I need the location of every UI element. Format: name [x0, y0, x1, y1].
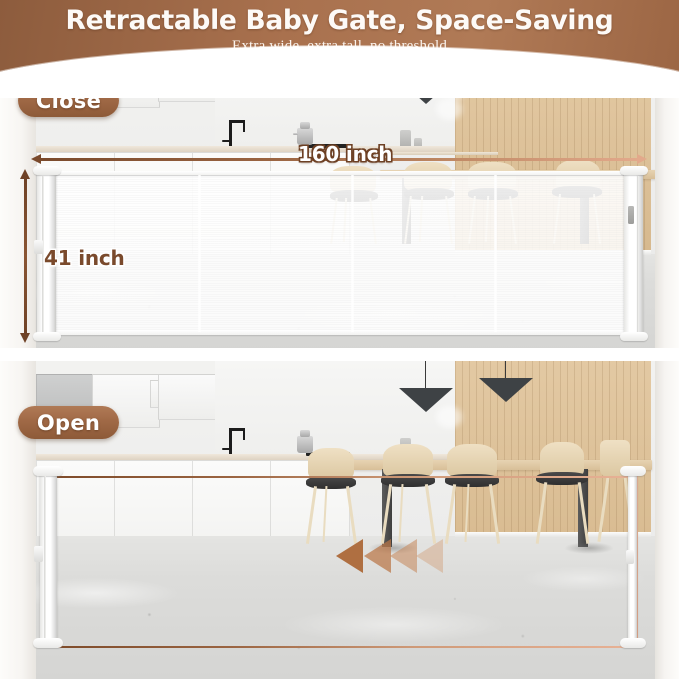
upper-cabinet [158, 374, 218, 420]
chevron-left-icon [336, 539, 363, 573]
panel-closed-state: 160 inch 41 inch Close [0, 58, 679, 350]
table-shadow [564, 542, 614, 554]
chevron-left-icon [364, 539, 391, 573]
baseboard [455, 532, 651, 537]
pendant-cord [505, 360, 506, 380]
gate-post-left-bracket [34, 240, 43, 254]
ghost-outline-top [52, 476, 638, 478]
gate-post-right-rod [637, 176, 639, 332]
gate-post-left-base [33, 332, 61, 341]
chevron-left-icon [416, 539, 443, 573]
gate-post-left-cap [33, 166, 61, 175]
faucet-neck [243, 428, 245, 440]
gate-post-left-base-open [33, 638, 63, 648]
page-title: Retractable Baby Gate, Space-Saving [0, 5, 679, 36]
chevron-left-icon [390, 539, 417, 573]
kettle-top [300, 122, 310, 129]
gate-post-right-latch [628, 206, 634, 224]
gate-mesh-divider [494, 175, 497, 332]
faucet-neck [243, 120, 245, 132]
kettle-body [297, 436, 313, 453]
door-jamb-right [655, 360, 679, 679]
arrow-down-icon [20, 333, 30, 343]
gate-top-rail [45, 171, 635, 175]
kettle-spout [293, 133, 298, 135]
gate-mesh-divider [351, 175, 354, 332]
faucet-stem [229, 120, 232, 148]
height-dimension-label: 41 inch [44, 246, 125, 270]
gate-mesh-panel [45, 175, 635, 332]
width-dimension-label: 160 inch [298, 142, 392, 166]
faucet-stem [229, 428, 232, 456]
product-infographic: 160 inch 41 inch Close [0, 0, 679, 679]
header-banner: Retractable Baby Gate, Space-Saving Extr… [0, 0, 679, 72]
gate-post-left-rod-open [44, 476, 46, 638]
gate-post-right [624, 171, 643, 337]
gate-post-right-base [620, 332, 648, 341]
gate-post-right-bracket-open [626, 550, 634, 564]
gate-post-right-base-open [620, 638, 646, 648]
state-badge-open: Open [18, 406, 119, 439]
gate-post-left-bracket-open [34, 546, 43, 562]
arrow-up-icon [20, 169, 30, 179]
gate-mesh-divider [198, 175, 201, 332]
gate-post-right-cap-open [620, 466, 646, 476]
pendant-shade [479, 378, 533, 402]
panel-open-state: Open [0, 360, 679, 679]
panel-divider [0, 348, 679, 361]
height-dimension-arrow [24, 178, 27, 334]
pendant-cord [425, 360, 426, 390]
gate-post-left-cap-open [33, 466, 63, 476]
steam-puff [436, 406, 462, 428]
arrow-right-icon [637, 154, 647, 164]
steam-puff [436, 98, 462, 120]
state-badge-open-label: Open [37, 411, 100, 435]
gate-post-right-cap [620, 166, 648, 175]
door-jamb-right [655, 58, 679, 350]
arrow-left-icon [31, 154, 41, 164]
floating-shelf [392, 152, 498, 155]
kettle-top [300, 430, 310, 437]
ghost-outline-bottom [52, 646, 638, 648]
gate-bottom-rail [45, 330, 635, 335]
